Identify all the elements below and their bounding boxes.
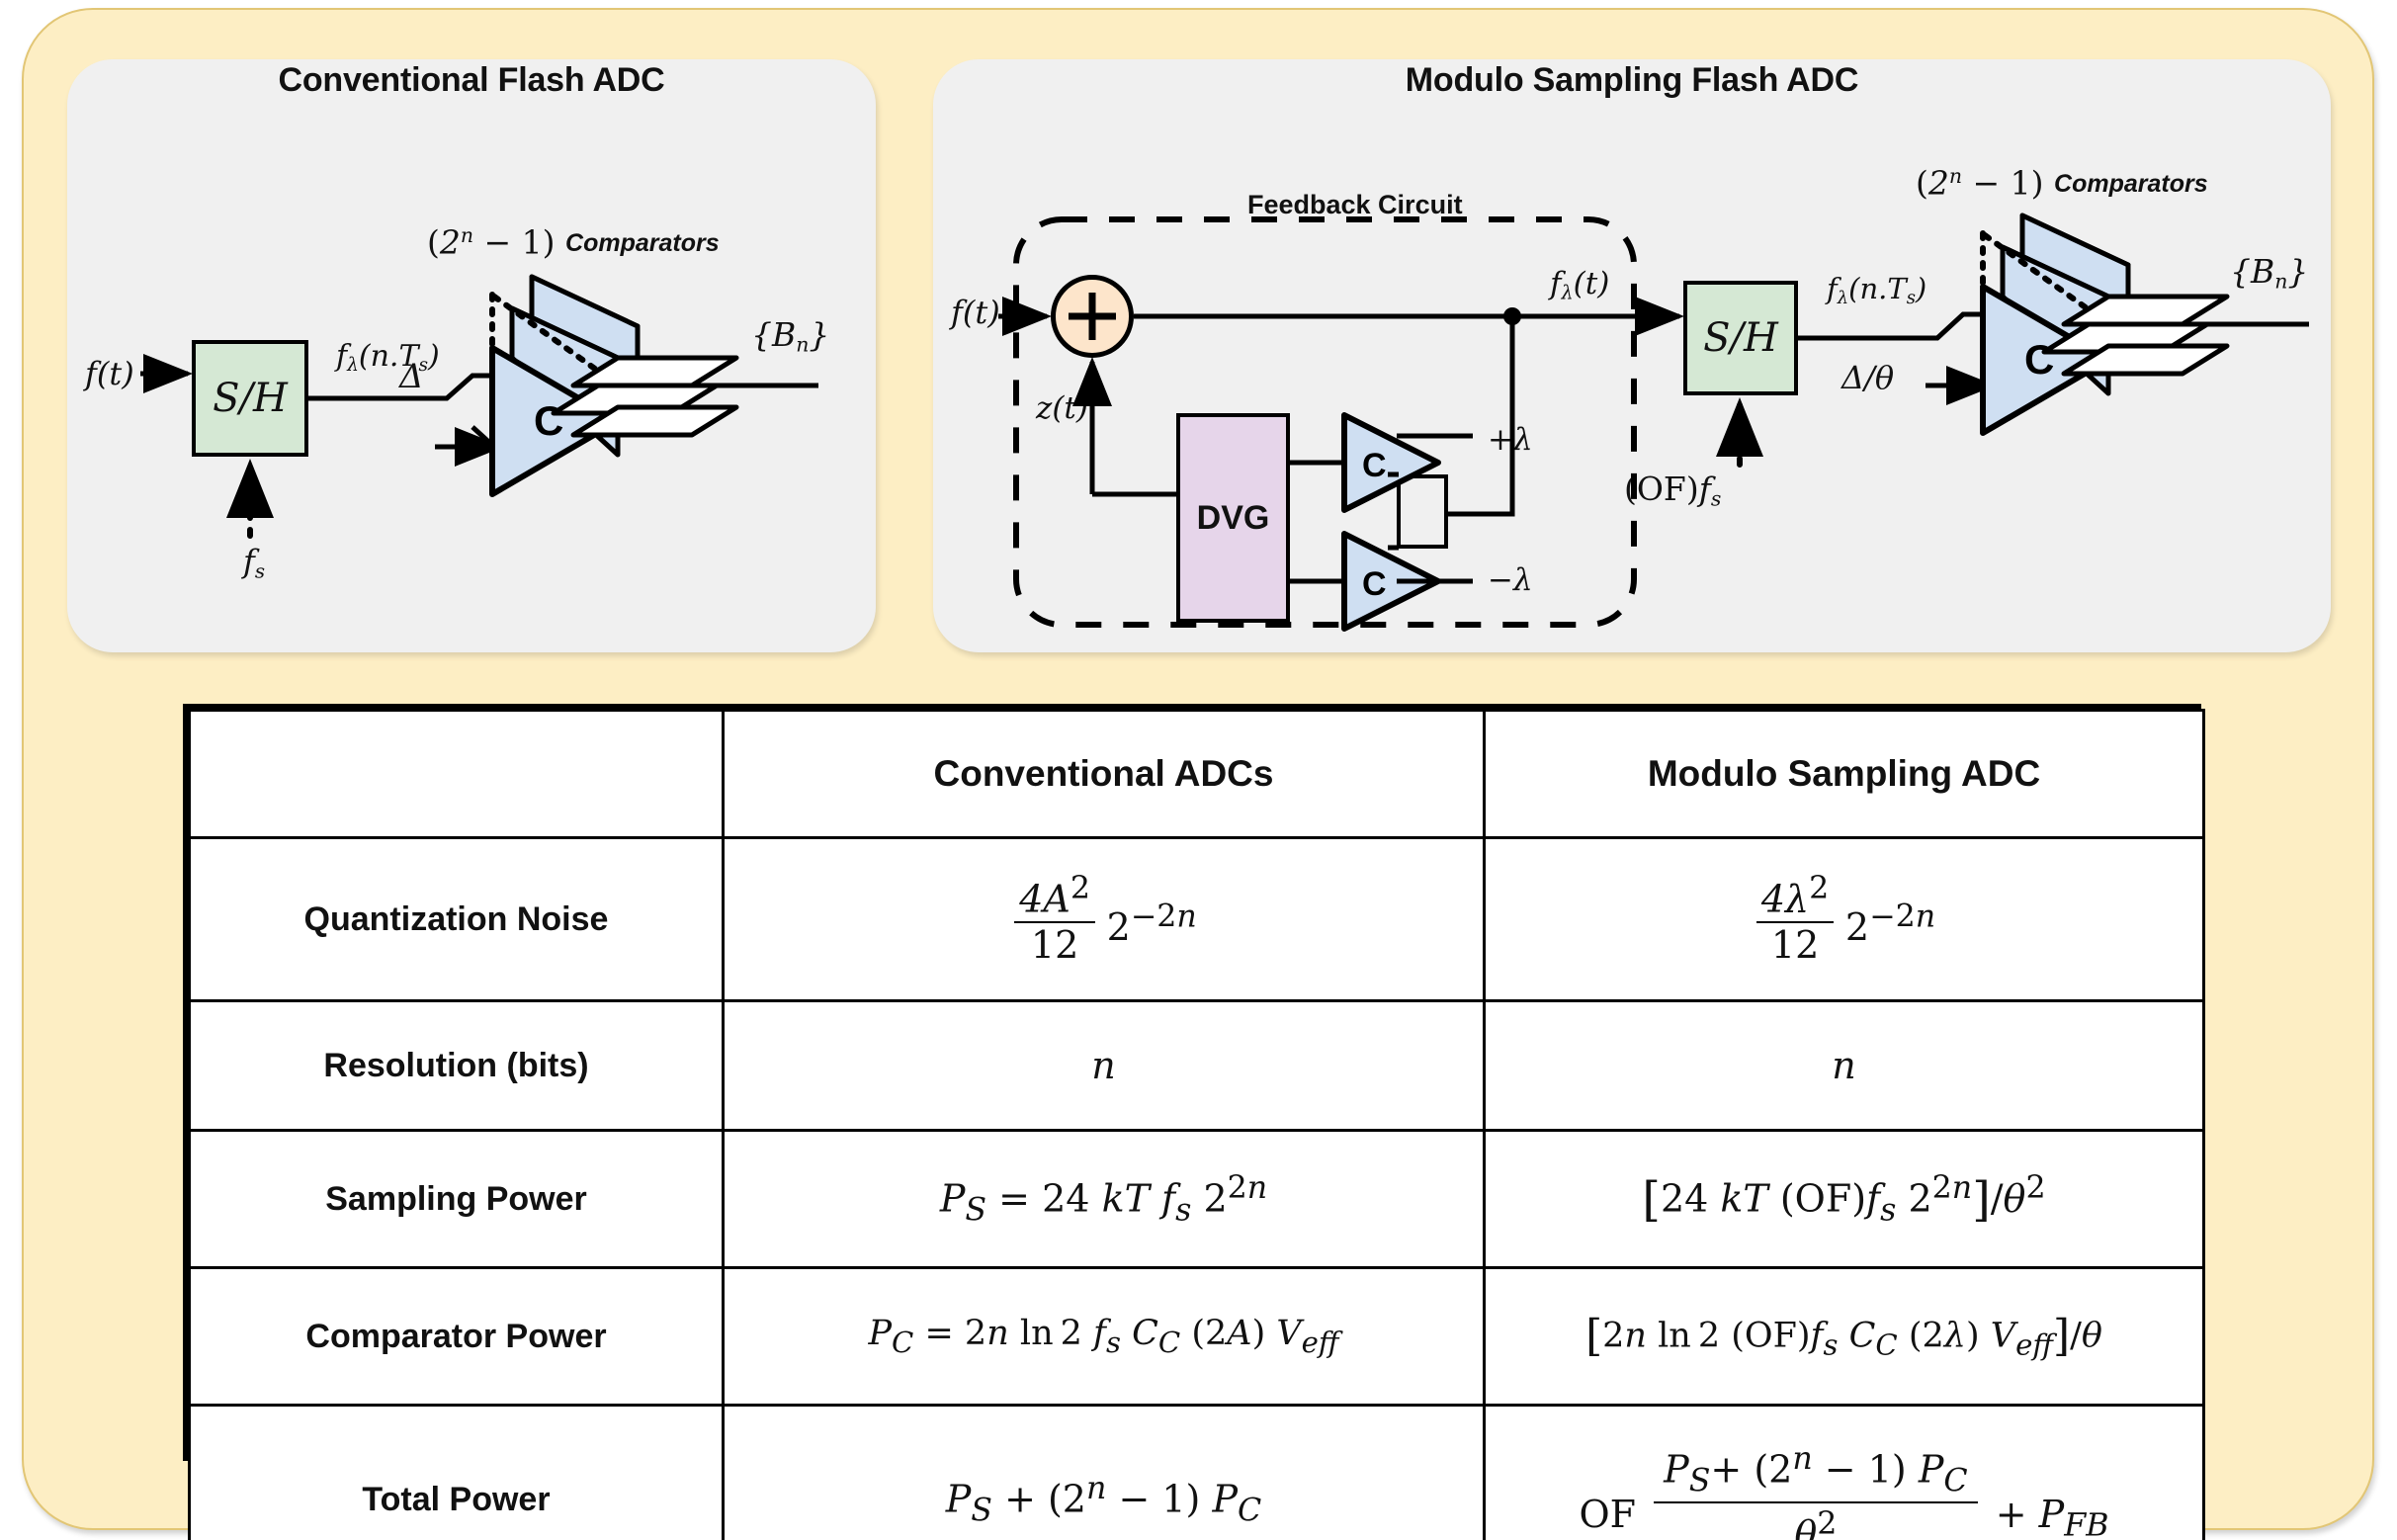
sample-hold-label-right: S/H [1703,315,1778,361]
sampled-signal-label-right: fλ(n.Ts) [1827,275,1926,307]
right-comparators-caption: (2n − 1) Comparators [1916,166,2208,199]
table-row: Quantization Noise 4A212 2−2n 4λ212 2−2n [190,838,2204,1001]
threshold-label-left: Δ [399,360,424,393]
feedback-circuit-label: Feedback Circuit [1247,190,1463,220]
left-comparators-caption: (2n − 1) Comparators [427,225,720,258]
table-header-conventional: Conventional ADCs [724,711,1485,838]
cell-quantization-noise-modulo: 4λ212 2−2n [1485,838,2204,1001]
negative-lambda-label: −λ [1488,565,1533,596]
clock-label-left: fs [243,546,265,581]
table-row: Resolution (bits) n n [190,1001,2204,1131]
dvg-label: DVG [1197,499,1270,538]
cell-comparator-power-conventional: PC = 2n ln 2 fs CC (2A) Veff [724,1268,1485,1406]
panel-right-title: Modulo Sampling Flash ADC [933,61,2331,100]
clock-label-right: (OF)fs [1624,472,1721,509]
feedback-signal-label: z(t) [1036,393,1088,424]
cell-resolution-modulo: n [1485,1001,2204,1131]
table-row: Comparator Power PC = 2n ln 2 fs CC (2A)… [190,1268,2204,1406]
panel-conventional-flash-adc [67,59,876,652]
cell-sampling-power-modulo: [24 kT (OF)fs 22n]/θ2 [1485,1131,2204,1268]
cell-quantization-noise-conventional: 4A212 2−2n [724,838,1485,1001]
sample-hold-block-left: S/H [192,340,308,457]
row-label-sampling-power: Sampling Power [190,1131,724,1268]
threshold-label-right: Δ/θ [1841,362,1894,393]
table-header-row: Conventional ADCs Modulo Sampling ADC [190,711,2204,838]
table-row: Sampling Power PS = 24 kT fs 22n [24 kT … [190,1131,2204,1268]
input-signal-label-left: f(t) [85,358,134,389]
sample-hold-block-right: S/H [1683,281,1798,395]
comparison-table: Conventional ADCs Modulo Sampling ADC Qu… [183,704,2201,1461]
latch-block [1397,474,1448,549]
summing-junction [1051,275,1134,358]
row-label-quantization-noise: Quantization Noise [190,838,724,1001]
figure-root: Conventional Flash ADC (2n − 1) Comparat… [0,0,2397,1540]
table-header-blank [190,711,724,838]
output-label-right: {Bn} [2230,255,2308,292]
sampled-signal-label-left: fλ(n.Ts) [336,342,440,376]
dvg-block: DVG [1176,413,1290,623]
panel-left-title: Conventional Flash ADC [67,61,876,100]
cell-sampling-power-conventional: PS = 24 kT fs 22n [724,1131,1485,1268]
left-comparators-word: Comparators [565,229,720,257]
table-header-modulo: Modulo Sampling ADC [1485,711,2204,838]
input-signal-label-right: f(t) [951,297,1000,328]
cell-total-power-conventional: PS + (2n − 1) PC [724,1406,1485,1540]
table-row: Total Power PS + (2n − 1) PC OF PS+ (2n … [190,1406,2204,1540]
modulo-signal-label: fλ(t) [1550,269,1609,302]
cell-total-power-modulo: OF PS+ (2n − 1) PC θ2 + PFB [1485,1406,2204,1540]
row-label-total-power: Total Power [190,1406,724,1540]
panel-modulo-sampling-flash-adc [933,59,2331,652]
cell-comparator-power-modulo: [2n ln 2 (OF)fs CC (2λ) Veff]/θ [1485,1268,2204,1406]
row-label-comparator-power: Comparator Power [190,1268,724,1406]
right-comparators-word: Comparators [2054,170,2208,198]
row-label-resolution: Resolution (bits) [190,1001,724,1131]
sample-hold-label-left: S/H [213,376,288,421]
positive-lambda-label: +λ [1488,425,1533,456]
output-label-left: {Bn} [751,318,829,355]
cell-resolution-conventional: n [724,1001,1485,1131]
